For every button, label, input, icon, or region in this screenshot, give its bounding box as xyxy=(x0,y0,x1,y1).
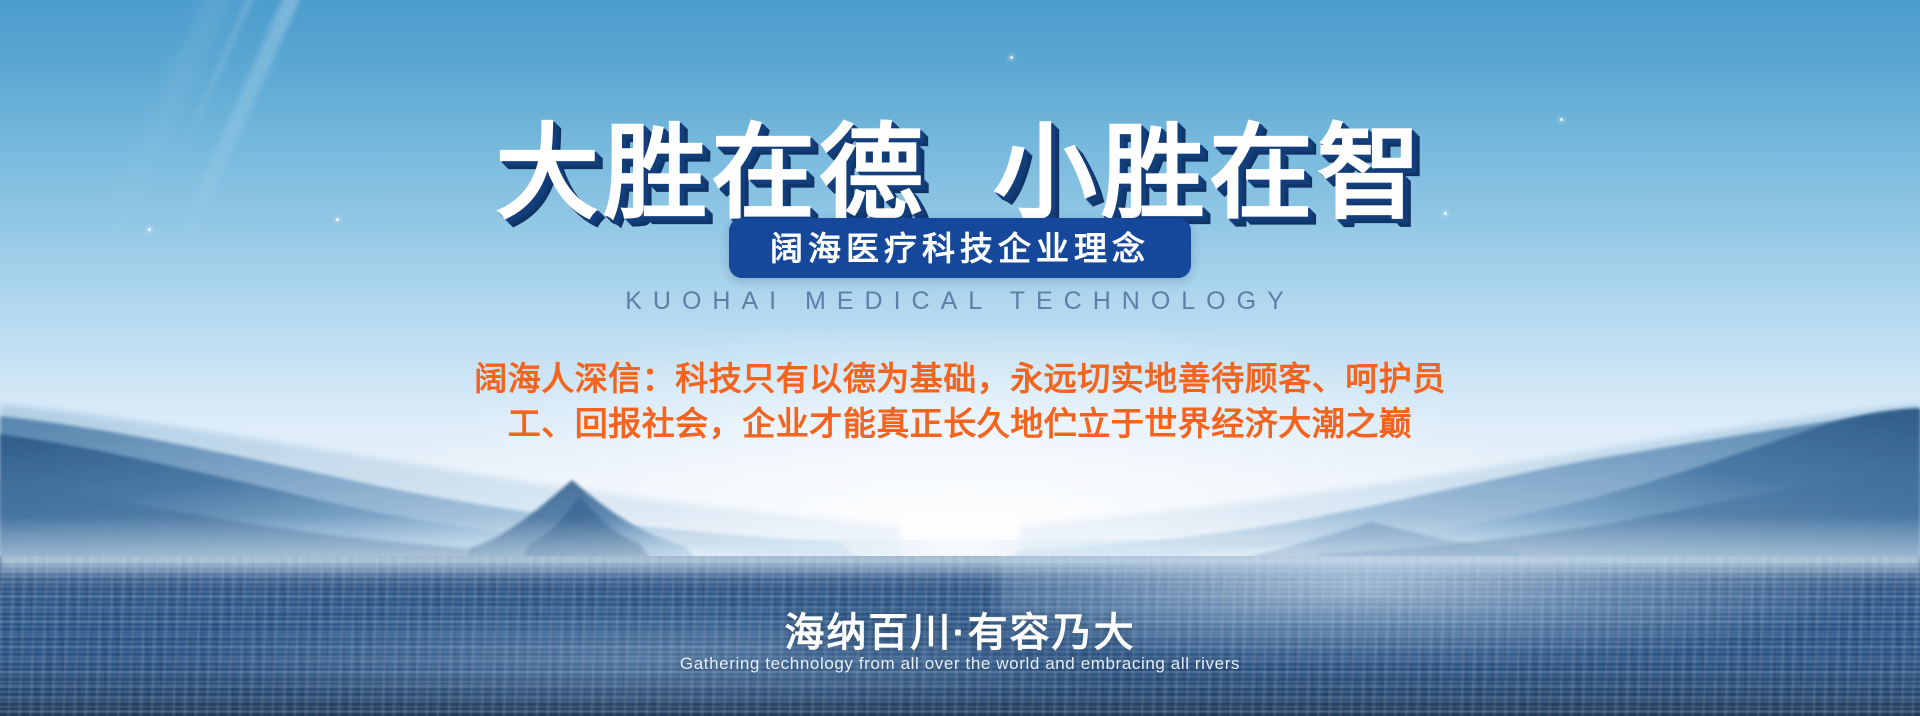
hero-banner: 大胜在德 小胜在智 阔海医疗科技企业理念 KUOHAI MEDICAL TECH… xyxy=(0,0,1920,716)
philosophy-statement-line-1: 阔海人深信：科技只有以德为基础，永远切实地善待顾客、呵护员 xyxy=(450,356,1470,401)
philosophy-statement-line-2: 工、回报社会，企业才能真正长久地伫立于世界经济大潮之巅 xyxy=(450,401,1470,446)
company-subtitle-en: KUOHAI MEDICAL TECHNOLOGY xyxy=(0,287,1920,316)
motto-cn: 海纳百川·有容乃大 xyxy=(0,600,1920,658)
philosophy-statement: 阔海人深信：科技只有以德为基础，永远切实地善待顾客、呵护员 工、回报社会，企业才… xyxy=(450,356,1470,446)
banner-content: 大胜在德 小胜在智 阔海医疗科技企业理念 KUOHAI MEDICAL TECH… xyxy=(0,0,1920,716)
page-title: 大胜在德 小胜在智 xyxy=(0,116,1920,232)
philosophy-badge-label: 阔海医疗科技企业理念 xyxy=(770,232,1150,265)
motto-en: Gathering technology from all over the w… xyxy=(0,654,1920,674)
philosophy-badge: 阔海医疗科技企业理念 xyxy=(729,218,1191,278)
